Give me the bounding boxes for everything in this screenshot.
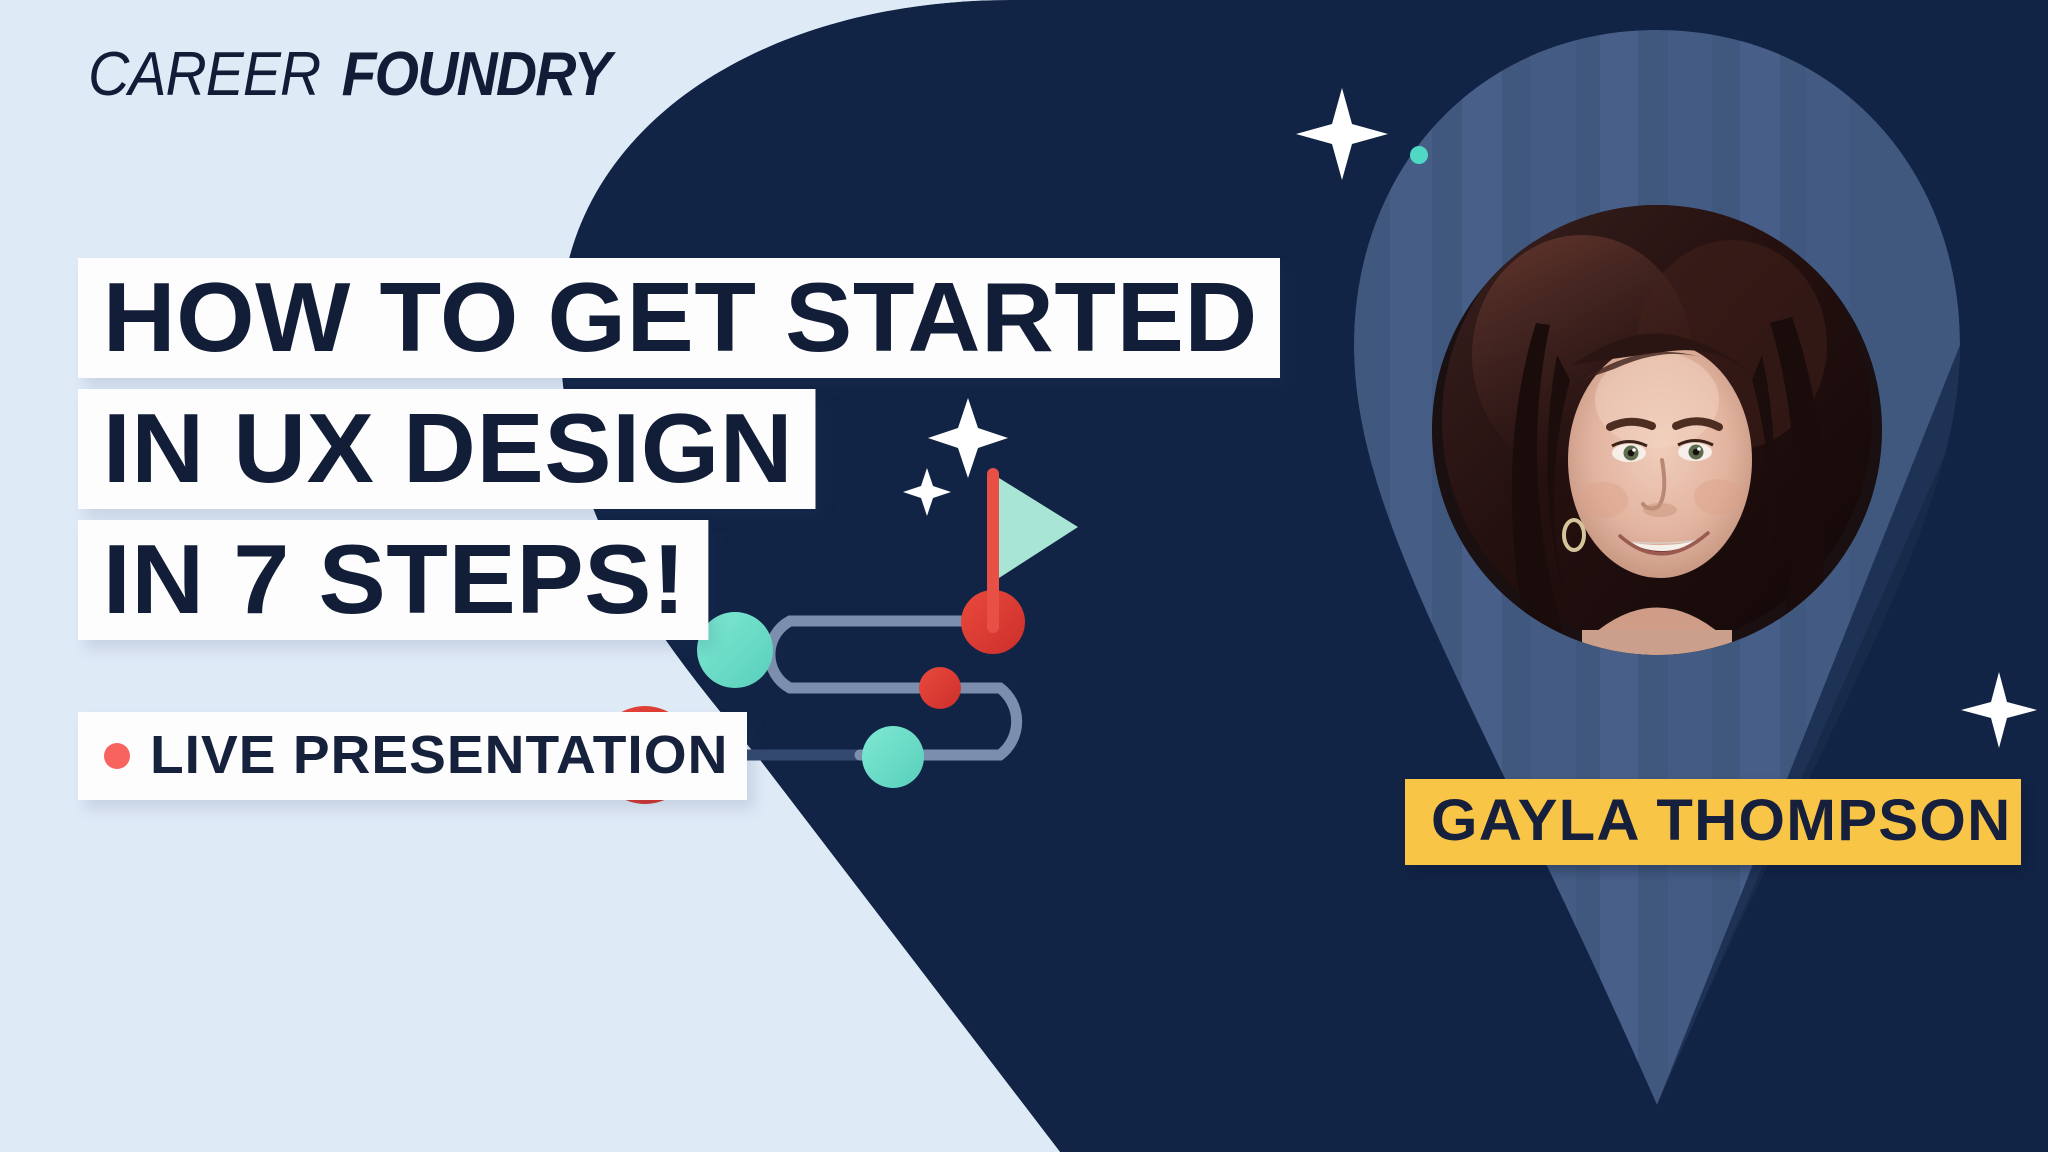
red-node-middle <box>919 667 961 709</box>
mint-node-bottom <box>862 726 924 788</box>
brand-logo[interactable]: CAREERFOUNDRY <box>78 44 622 106</box>
sparkle-icon <box>1410 146 1428 164</box>
brand-logo-light: CAREER <box>88 44 320 106</box>
status-badge: LIVE PRESENTATION <box>78 712 747 800</box>
speaker-portrait <box>1432 205 1882 655</box>
status-badge-label: LIVE PRESENTATION <box>150 728 728 782</box>
title-line-3: IN 7 STEPS! <box>78 520 709 640</box>
avatar <box>1432 205 1882 655</box>
live-dot-icon <box>104 743 130 769</box>
slide-canvas: CAREERFOUNDRY HOW TO GET STARTED IN UX D… <box>0 0 2048 1152</box>
page-title: HOW TO GET STARTED IN UX DESIGN IN 7 STE… <box>78 258 1245 651</box>
title-line-1: HOW TO GET STARTED <box>78 258 1280 378</box>
speaker-name-plate: GAYLA THOMPSON <box>1405 779 2021 865</box>
title-line-2: IN UX DESIGN <box>78 389 816 509</box>
speaker-name: GAYLA THOMPSON <box>1431 792 2011 850</box>
brand-logo-bold: FOUNDRY <box>342 44 610 106</box>
